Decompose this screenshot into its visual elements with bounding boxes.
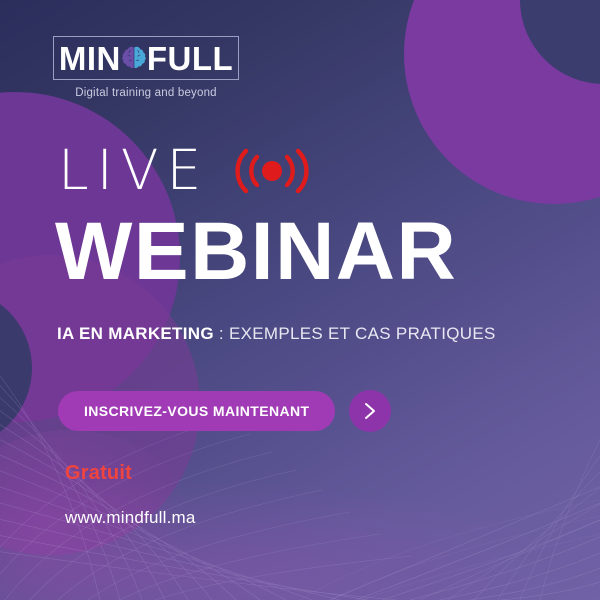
chevron-right-icon: [362, 401, 378, 421]
brain-icon: [121, 44, 147, 72]
subtitle-bold: IA EN MARKETING: [57, 324, 214, 343]
logo-frame: MIN FULL: [53, 36, 239, 80]
live-label: LIVE: [58, 143, 209, 198]
next-arrow-button[interactable]: [349, 390, 391, 432]
page-title: WEBINAR: [55, 211, 457, 293]
register-button[interactable]: INSCRIVEZ-VOUS MAINTENANT: [58, 391, 335, 431]
website-url[interactable]: www.mindfull.ma: [65, 508, 196, 528]
broadcast-live-icon: [235, 145, 309, 197]
cta-group: INSCRIVEZ-VOUS MAINTENANT: [58, 390, 391, 432]
subtitle-light: : EXEMPLES ET CAS PRATIQUES: [214, 324, 496, 343]
webinar-poster: MIN FULL Digital tra: [0, 0, 600, 600]
logo-word-left: MIN: [59, 42, 121, 75]
brand-logo: MIN FULL Digital tra: [53, 36, 239, 99]
live-badge: LIVE: [58, 143, 309, 198]
logo-word-right: FULL: [147, 42, 233, 75]
logo-tagline: Digital training and beyond: [53, 87, 239, 99]
price-label: Gratuit: [65, 462, 132, 485]
subtitle: IA EN MARKETING : EXEMPLES ET CAS PRATIQ…: [57, 324, 496, 344]
